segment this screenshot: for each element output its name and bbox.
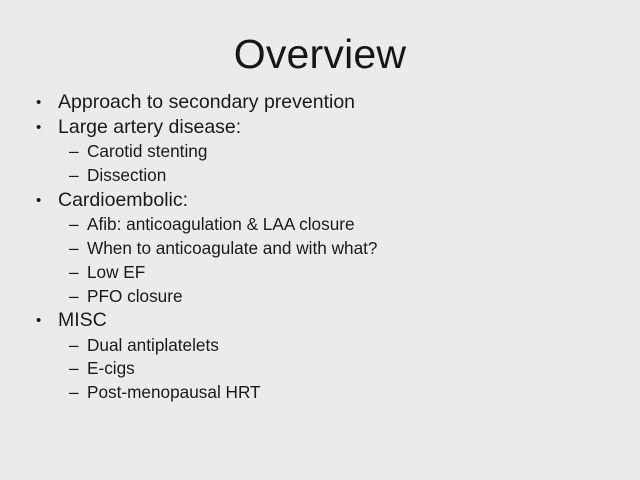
bullet-dash-icon: –	[69, 164, 87, 188]
bullet-dot-icon: •	[36, 308, 58, 333]
list-item-label: Carotid stenting	[87, 140, 207, 164]
list-item-label: Low EF	[87, 261, 145, 285]
bullet-dash-icon: –	[69, 261, 87, 285]
list-item-label: MISC	[58, 308, 107, 333]
list-item-label: Approach to secondary prevention	[58, 90, 355, 115]
list-item: –Post-menopausal HRT	[0, 381, 640, 405]
list-item-label: Dissection	[87, 164, 166, 188]
list-item: –Afib: anticoagulation & LAA closure	[0, 213, 640, 237]
list-item: •Large artery disease:	[0, 115, 640, 140]
bullet-dash-icon: –	[69, 285, 87, 309]
bullet-dash-icon: –	[69, 381, 87, 405]
bullet-dot-icon: •	[36, 115, 58, 140]
list-item: –Dual antiplatelets	[0, 334, 640, 358]
list-item-label: PFO closure	[87, 285, 183, 309]
list-item: –Low EF	[0, 261, 640, 285]
bullet-dash-icon: –	[69, 237, 87, 261]
list-item-label: Afib: anticoagulation & LAA closure	[87, 213, 355, 237]
list-item-label: Dual antiplatelets	[87, 334, 219, 358]
bullet-dot-icon: •	[36, 90, 58, 115]
list-item: –E-cigs	[0, 357, 640, 381]
list-item-label: Post-menopausal HRT	[87, 381, 261, 405]
page-title: Overview	[0, 30, 640, 78]
presentation-slide: Overview •Approach to secondary preventi…	[0, 0, 640, 480]
list-item-label: E-cigs	[87, 357, 135, 381]
bullet-dash-icon: –	[69, 357, 87, 381]
list-item: •Approach to secondary prevention	[0, 90, 640, 115]
bullet-dash-icon: –	[69, 213, 87, 237]
list-item: •MISC	[0, 308, 640, 333]
list-item-label: Large artery disease:	[58, 115, 241, 140]
bullet-dash-icon: –	[69, 334, 87, 358]
bullet-dash-icon: –	[69, 140, 87, 164]
list-item: •Cardioembolic:	[0, 188, 640, 213]
list-item-label: When to anticoagulate and with what?	[87, 237, 377, 261]
list-item: –When to anticoagulate and with what?	[0, 237, 640, 261]
slide-bullet-list: •Approach to secondary prevention•Large …	[0, 90, 640, 405]
bullet-dot-icon: •	[36, 188, 58, 213]
list-item: –Carotid stenting	[0, 140, 640, 164]
list-item-label: Cardioembolic:	[58, 188, 188, 213]
list-item: –Dissection	[0, 164, 640, 188]
list-item: –PFO closure	[0, 285, 640, 309]
